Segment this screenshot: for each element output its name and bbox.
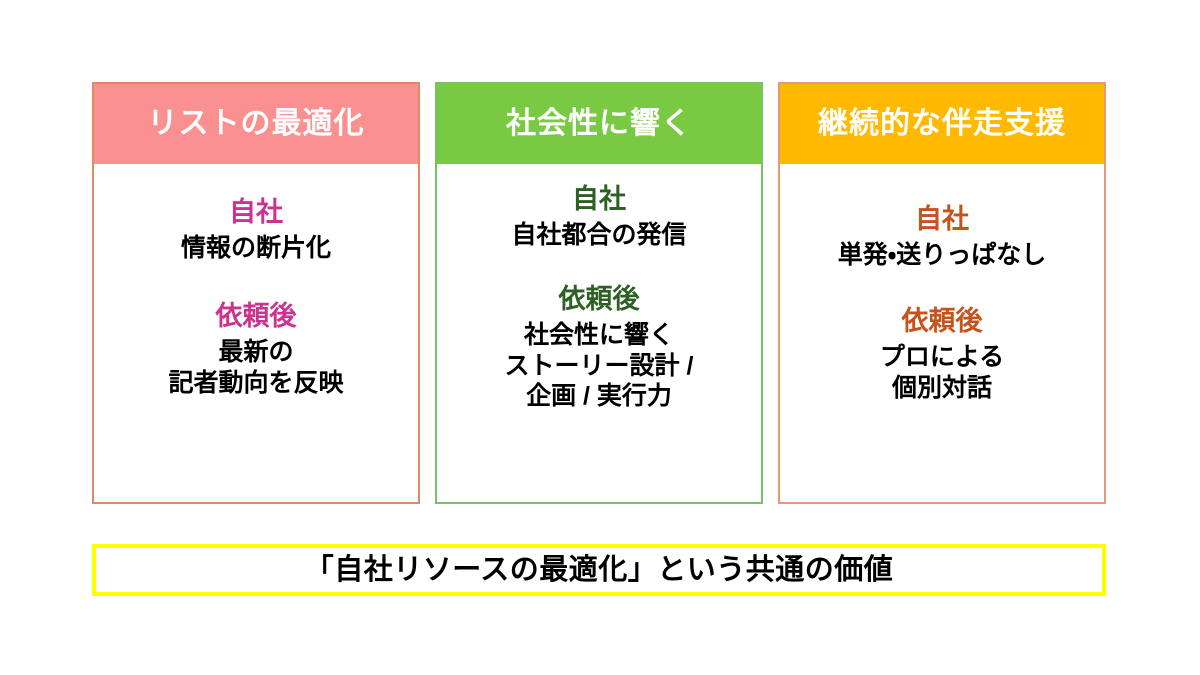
card-body-continuous-support: 自社 単発・送りっぱなし 依頼後 プロによる 個別対話	[780, 164, 1104, 502]
card-body-list-optimization: 自社 情報の断片化 依頼後 最新の 記者動向を反映	[94, 164, 418, 502]
card-block-after-request: 依頼後 社会性に響く ストーリー設計 / 企画 / 実行力	[443, 284, 755, 411]
card-block-current-state: 自社 単発・送りっぱなし	[786, 204, 1098, 270]
card-header-continuous-support: 継続的な伴走支援	[780, 84, 1104, 164]
summary-banner: 「自社リソースの最適化」という共通の価値	[92, 544, 1106, 596]
slide-canvas: リストの最適化 自社 情報の断片化 依頼後 最新の 記者動向を反映 社会性に響く…	[0, 0, 1200, 675]
card-block-current-state: 自社 情報の断片化	[100, 197, 412, 263]
block-label-irai-go: 依頼後	[443, 284, 755, 316]
block-text-jisha: 情報の断片化	[100, 233, 412, 264]
block-label-jisha: 自社	[443, 184, 755, 216]
card-block-after-request: 依頼後 プロによる 個別対話	[786, 306, 1098, 403]
card-list-optimization: リストの最適化 自社 情報の断片化 依頼後 最新の 記者動向を反映	[92, 82, 420, 504]
block-label-jisha: 自社	[786, 204, 1098, 236]
block-label-irai-go: 依頼後	[100, 301, 412, 333]
block-text-jisha: 自社都合の発信	[443, 220, 755, 251]
card-continuous-support: 継続的な伴走支援 自社 単発・送りっぱなし 依頼後 プロによる 個別対話	[778, 82, 1106, 504]
card-header-list-optimization: リストの最適化	[94, 84, 418, 164]
summary-banner-text: 「自社リソースの最適化」という共通の価値	[305, 556, 894, 585]
block-label-jisha: 自社	[100, 197, 412, 229]
block-text-jisha: 単発・送りっぱなし	[786, 240, 1098, 271]
comparison-cards: リストの最適化 自社 情報の断片化 依頼後 最新の 記者動向を反映 社会性に響く…	[92, 82, 1106, 504]
card-social-resonance: 社会性に響く 自社 自社都合の発信 依頼後 社会性に響く ストーリー設計 / 企…	[435, 82, 763, 504]
block-text-irai-go: 最新の 記者動向を反映	[100, 337, 412, 398]
card-block-after-request: 依頼後 最新の 記者動向を反映	[100, 301, 412, 398]
block-text-irai-go: 社会性に響く ストーリー設計 / 企画 / 実行力	[443, 320, 755, 412]
card-body-social-resonance: 自社 自社都合の発信 依頼後 社会性に響く ストーリー設計 / 企画 / 実行力	[437, 164, 761, 502]
card-header-social-resonance: 社会性に響く	[437, 84, 761, 164]
block-text-irai-go: プロによる 個別対話	[786, 342, 1098, 403]
block-label-irai-go: 依頼後	[786, 306, 1098, 338]
card-block-current-state: 自社 自社都合の発信	[443, 184, 755, 250]
